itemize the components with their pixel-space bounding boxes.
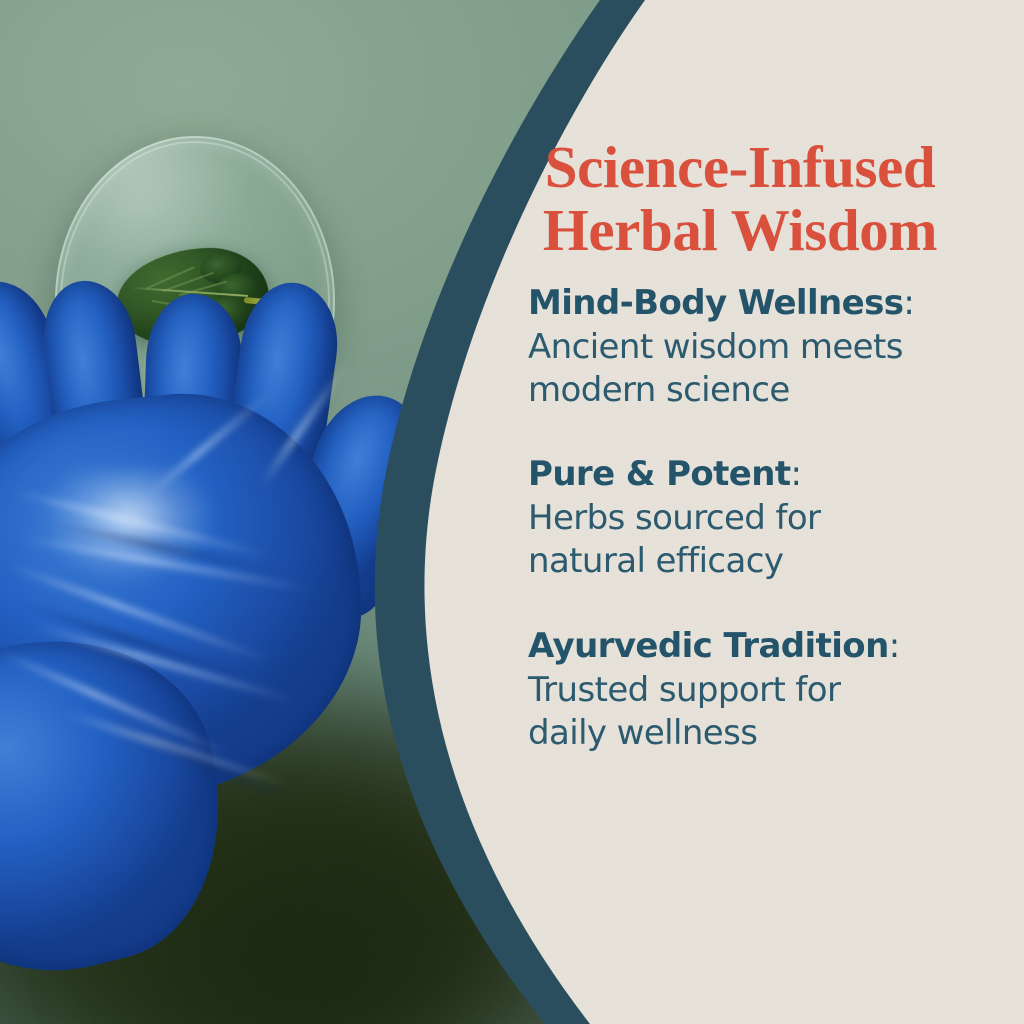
benefit-heading-colon: :	[791, 454, 802, 494]
benefit-heading: Mind-Body Wellness:	[528, 282, 998, 325]
benefit-heading-text: Pure & Potent	[528, 454, 791, 494]
text-content: Science-Infused Herbal Wisdom Mind-Body …	[470, 0, 1015, 1024]
benefit-heading-text: Ayurvedic Tradition	[528, 626, 889, 666]
benefit-body-line-2: natural efficacy	[528, 540, 998, 583]
list-item: Mind-Body Wellness: Ancient wisdom meets…	[528, 282, 998, 411]
benefit-heading-text: Mind-Body Wellness	[528, 283, 903, 323]
benefit-body-line-1: Ancient wisdom meets	[528, 326, 998, 369]
list-item: Pure & Potent: Herbs sourced for natural…	[528, 453, 998, 582]
page-title: Science-Infused Herbal Wisdom	[470, 136, 1010, 262]
benefit-heading-colon: :	[903, 283, 914, 323]
benefit-body-line-1: Trusted support for	[528, 669, 998, 712]
benefit-heading: Ayurvedic Tradition:	[528, 625, 998, 668]
list-item: Ayurvedic Tradition: Trusted support for…	[528, 625, 998, 754]
benefit-heading: Pure & Potent:	[528, 453, 998, 496]
benefit-heading-colon: :	[889, 626, 900, 666]
benefit-body-line-1: Herbs sourced for	[528, 497, 998, 540]
headline-line-1: Science-Infused	[545, 134, 936, 200]
benefit-body-line-2: daily wellness	[528, 712, 998, 755]
benefit-list: Mind-Body Wellness: Ancient wisdom meets…	[528, 282, 998, 754]
headline-line-2: Herbal Wisdom	[470, 199, 1010, 262]
promo-graphic: Science-Infused Herbal Wisdom Mind-Body …	[0, 0, 1024, 1024]
benefit-body-line-2: modern science	[528, 369, 998, 412]
